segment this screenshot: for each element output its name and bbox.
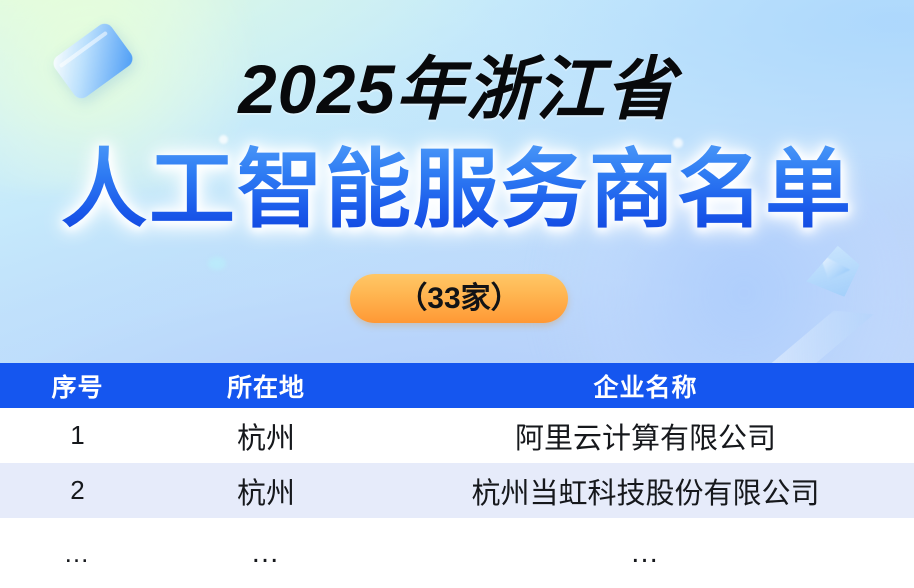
table-cell-index: 1 [0, 420, 155, 451]
poster-title-line-2: 人工智能服务商名单 [61, 138, 853, 242]
table-cell-company: 杭州当虹科技股份有限公司 [377, 470, 914, 512]
table-cell-index: 2 [0, 475, 155, 506]
table-header-row: 序号 所在地 企业名称 [0, 363, 914, 408]
table-row: 2 杭州 杭州当虹科技股份有限公司 [0, 463, 914, 518]
table-cell-location: 杭州 [155, 470, 377, 512]
poster-root: 2025年浙江省 人工智能服务商名单 （33家） 序号 所在地 企业名称 1 杭… [0, 0, 914, 588]
table-cell-index-ellipsis: … [0, 538, 155, 569]
table-cell-company: 阿里云计算有限公司 [377, 415, 914, 457]
hero-banner: 2025年浙江省 人工智能服务商名单 （33家） [0, 0, 914, 363]
table-cell-company-ellipsis: … [377, 537, 914, 570]
table-cell-location: 杭州 [155, 415, 377, 457]
count-badge: （33家） [350, 274, 568, 323]
table-header-location: 所在地 [155, 368, 377, 404]
poster-title-line-2-wrapper: 人工智能服务商名单 [0, 138, 914, 242]
count-badge-label: （33家） [397, 284, 520, 314]
table-header-company: 企业名称 [377, 368, 914, 404]
poster-title-line-1: 2025年浙江省 [0, 48, 914, 132]
table-row-ellipsis: … … … [0, 518, 914, 588]
decorative-dot-icon [208, 257, 226, 270]
table-row: 1 杭州 阿里云计算有限公司 [0, 408, 914, 463]
company-table: 序号 所在地 企业名称 1 杭州 阿里云计算有限公司 2 杭州 杭州当虹科技股份… [0, 363, 914, 588]
table-header-index: 序号 [0, 368, 155, 404]
table-cell-location-ellipsis: … [155, 537, 377, 570]
